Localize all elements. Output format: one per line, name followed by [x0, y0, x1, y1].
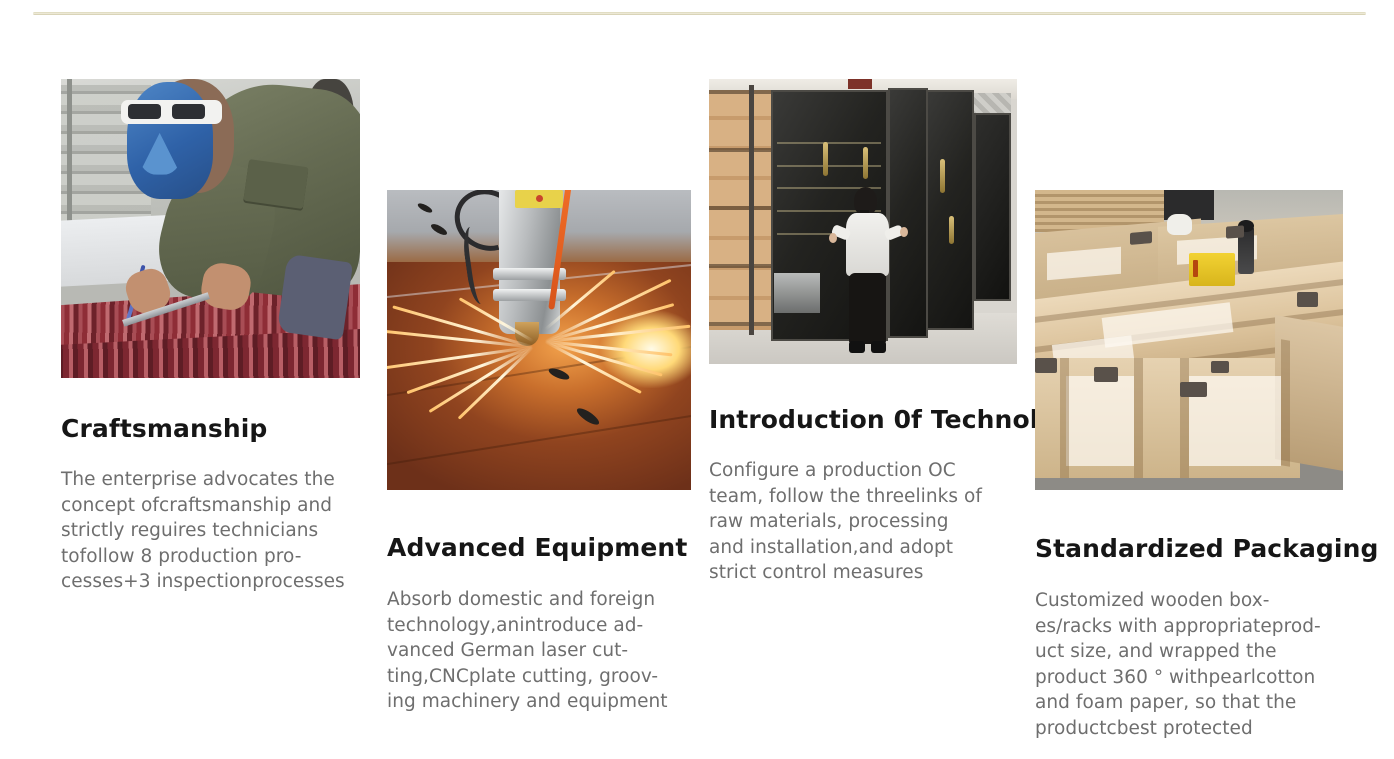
- door-panel-far: [974, 113, 1011, 301]
- visitor-right-shoe: [871, 341, 886, 352]
- label-red-dot: [536, 195, 543, 202]
- safety-glasses-left-lens: [128, 104, 161, 119]
- body-line: cesses+3 inspectionprocesses: [61, 569, 381, 595]
- body-line: tofollow 8 production pro-: [61, 544, 381, 570]
- body-line: concept ofcraftsmanship and: [61, 493, 381, 519]
- metal-post: [749, 85, 754, 336]
- visitor-shirt: [846, 213, 889, 276]
- yellow-box: [1189, 253, 1235, 286]
- white-bag: [1167, 214, 1192, 235]
- body-line: productcbest protected: [1035, 716, 1365, 742]
- crate-corner-bracket: [1226, 225, 1244, 238]
- top-divider-rule: [33, 12, 1366, 15]
- advanced-equipment-body: Absorb domestic and foreign technology,a…: [387, 587, 707, 715]
- crate-batten: [1060, 358, 1069, 478]
- jacket-pocket: [244, 159, 309, 209]
- visitor-right-hand: [900, 227, 908, 237]
- body-line: and foam paper, so that the: [1035, 690, 1365, 716]
- standardized-packaging-heading: Standardized Packaging: [1035, 534, 1365, 563]
- body-line: strictly reguires technicians: [61, 518, 381, 544]
- worker-trousers: [277, 254, 353, 340]
- body-line: uct size, and wrapped the: [1035, 639, 1365, 665]
- body-line: product 360 ° withpearlcotton: [1035, 665, 1365, 691]
- feature-column-standardized-packaging: Standardized Packaging Customized wooden…: [1035, 190, 1365, 741]
- gold-handle: [823, 142, 828, 176]
- introduction-of-technology-body: Configure a production OC team, follow t…: [709, 458, 1034, 586]
- crate-latch: [1211, 361, 1229, 373]
- crate-batten: [1134, 358, 1143, 478]
- crate-corner-bracket: [1297, 292, 1319, 307]
- standardized-packaging-body: Customized wooden box- es/racks with app…: [1035, 588, 1365, 741]
- body-line: raw materials, processing: [709, 509, 1034, 535]
- safety-glasses-right-lens: [172, 104, 205, 119]
- gold-handle: [949, 216, 954, 245]
- display-counter: [774, 273, 820, 313]
- body-line: Configure a production OC: [709, 458, 1034, 484]
- gold-handle: [863, 147, 868, 178]
- body-line: team, follow the threelinks of: [709, 484, 1034, 510]
- advanced-equipment-photo: [387, 190, 691, 490]
- crate-corner-bracket: [1035, 358, 1057, 373]
- craftsmanship-photo: [61, 79, 360, 378]
- introduction-of-technology-photo: [709, 79, 1017, 364]
- yellow-box-marking: [1193, 260, 1199, 277]
- feature-column-advanced-equipment: Advanced Equipment Absorb domestic and f…: [387, 190, 707, 715]
- body-line: es/racks with appropriateprod-: [1035, 614, 1365, 640]
- crate-corner-bracket: [1180, 382, 1208, 397]
- door-panel-right: [925, 90, 974, 329]
- body-line: Absorb domestic and foreign: [387, 587, 707, 613]
- body-line: vanced German laser cut-: [387, 638, 707, 664]
- door-panel-middle: [888, 88, 928, 339]
- advanced-equipment-heading: Advanced Equipment: [387, 533, 707, 562]
- ceiling-beam: [848, 79, 873, 89]
- visitor-trousers: [849, 273, 886, 344]
- body-line: strict control measures: [709, 560, 1034, 586]
- crate-batten: [1281, 339, 1290, 467]
- crate-front-white-panel: [1066, 376, 1134, 466]
- body-line: ing machinery and equipment: [387, 689, 707, 715]
- gold-handle: [940, 159, 945, 193]
- body-line: and installation,and adopt: [709, 535, 1034, 561]
- display-shelf: [777, 142, 882, 144]
- feature-column-introduction-of-technology: Introduction 0f Technology Configure a p…: [709, 79, 1034, 586]
- crate-corner-bracket: [1130, 231, 1152, 245]
- craftsmanship-heading: Craftsmanship: [61, 414, 381, 443]
- feature-column-craftsmanship: Craftsmanship The enterprise advocates t…: [61, 79, 381, 595]
- visitor-left-shoe: [849, 341, 864, 352]
- body-line: Customized wooden box-: [1035, 588, 1365, 614]
- body-line: ting,CNCplate cutting, groov-: [387, 664, 707, 690]
- crate-batten: [1180, 358, 1189, 478]
- craftsmanship-body: The enterprise advocates the concept ofc…: [61, 467, 381, 595]
- laser-cutting-head: [499, 190, 560, 334]
- visitor-left-hand: [829, 233, 837, 243]
- body-line: The enterprise advocates the: [61, 467, 381, 493]
- body-line: technology,anintroduce ad-: [387, 613, 707, 639]
- standardized-packaging-photo: [1035, 190, 1343, 490]
- introduction-of-technology-heading: Introduction 0f Technology: [709, 405, 1034, 434]
- crate-corner-bracket: [1094, 367, 1119, 382]
- plywood-wall-battens: [709, 90, 771, 329]
